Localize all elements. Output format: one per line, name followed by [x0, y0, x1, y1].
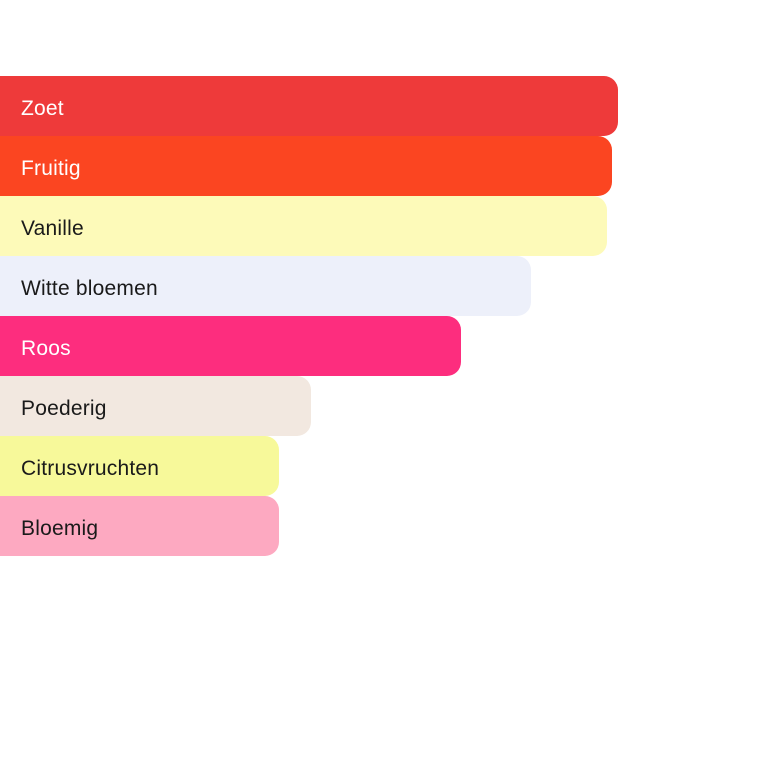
bar-fill: [0, 436, 279, 496]
bar-row[interactable]: Poederig: [0, 376, 771, 436]
bar-fill: [0, 496, 279, 556]
bar-row[interactable]: Fruitig: [0, 136, 771, 196]
bar-fill: [0, 376, 311, 436]
bar-list: ZoetFruitigVanilleWitte bloemenRoosPoede…: [0, 76, 771, 556]
bar-row[interactable]: Citrusvruchten: [0, 436, 771, 496]
bar-fill: [0, 76, 618, 136]
bar-fill: [0, 136, 612, 196]
fragrance-notes-bar-chart: ZoetFruitigVanilleWitte bloemenRoosPoede…: [0, 0, 771, 772]
bar-fill: [0, 316, 461, 376]
bar-row[interactable]: Zoet: [0, 76, 771, 136]
bar-fill: [0, 196, 607, 256]
bar-fill: [0, 256, 531, 316]
bar-row[interactable]: Vanille: [0, 196, 771, 256]
bar-row[interactable]: Roos: [0, 316, 771, 376]
bar-row[interactable]: Witte bloemen: [0, 256, 771, 316]
bar-row[interactable]: Bloemig: [0, 496, 771, 556]
